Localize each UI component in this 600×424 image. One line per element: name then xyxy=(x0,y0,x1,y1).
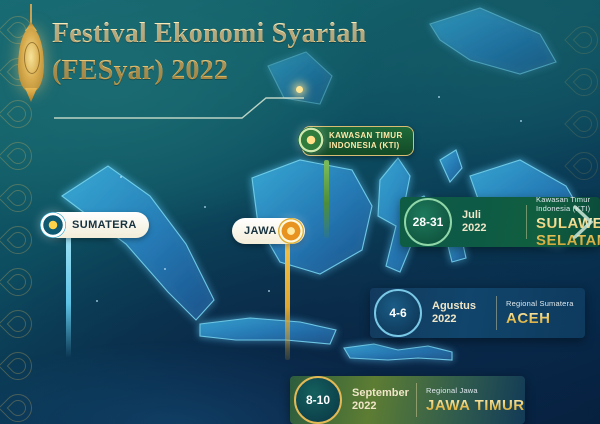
title-line-2: (FESyar) 2022 xyxy=(52,53,442,90)
event-card-aceh[interactable]: 4-6 Agustus 2022 Regional Sumatera ACEH xyxy=(370,288,585,338)
star-speck xyxy=(204,206,206,208)
star-speck xyxy=(120,176,122,178)
gold-medallion-icon xyxy=(278,218,304,244)
event-month: Agustus xyxy=(432,300,496,313)
map-pin-kti[interactable]: KAWASAN TIMUR INDONESIA (KTI) xyxy=(302,126,414,156)
event-month-year: Juli 2022 xyxy=(456,205,527,239)
event-dates: 8-10 xyxy=(294,376,342,424)
pin-stem-jawa xyxy=(285,242,290,360)
event-date-badge: 4-6 xyxy=(370,288,426,338)
pin-label-jawa: JAWA xyxy=(244,225,277,237)
event-province: JAWA TIMUR xyxy=(426,397,525,414)
chevron-right-icon xyxy=(572,205,594,239)
event-month: September xyxy=(352,387,416,400)
event-region: Regional Jawa xyxy=(426,386,525,395)
star-speck xyxy=(164,268,166,270)
title-connector-line xyxy=(54,96,304,120)
star-speck xyxy=(268,290,270,292)
event-month-year: Agustus 2022 xyxy=(426,296,497,330)
star-speck xyxy=(96,300,98,302)
festival-poster: Festival Ekonomi Syariah (FESyar) 2022 K… xyxy=(0,0,600,424)
title-connector-dot xyxy=(296,86,303,93)
event-card-sulawesi-selatan[interactable]: 28-31 Juli 2022 Kawasan Timur Indonesia … xyxy=(400,197,600,247)
event-date-badge: 8-10 xyxy=(290,376,346,424)
pin-label-kti-line2: INDONESIA (KTI) xyxy=(329,141,400,151)
event-card-jawa-timur[interactable]: 8-10 September 2022 Regional Jawa JAWA T… xyxy=(290,376,525,424)
event-year: 2022 xyxy=(352,400,416,413)
event-location: Regional Sumatera ACEH xyxy=(497,299,585,327)
map-pin-sumatera[interactable]: SUMATERA xyxy=(44,210,149,240)
event-region: Regional Sumatera xyxy=(506,299,585,308)
event-year: 2022 xyxy=(462,222,526,235)
event-location: Regional Jawa JAWA TIMUR xyxy=(417,386,525,414)
event-month: Juli xyxy=(462,209,526,222)
pin-stem-sumatera xyxy=(66,236,71,358)
teal-medallion-icon xyxy=(40,212,66,238)
pin-label-kti-line1: KAWASAN TIMUR xyxy=(329,131,403,141)
green-medallion-icon xyxy=(298,127,324,153)
event-dates: 4-6 xyxy=(374,289,422,337)
event-dates: 28-31 xyxy=(404,198,452,246)
event-province: ACEH xyxy=(506,310,585,327)
star-speck xyxy=(438,96,440,98)
lantern-icon xyxy=(14,4,48,112)
event-month-year: September 2022 xyxy=(346,383,417,417)
pin-label-sumatera: SUMATERA xyxy=(72,219,137,231)
star-speck xyxy=(520,120,522,122)
event-date-badge: 28-31 xyxy=(400,197,456,247)
pin-stem-kti xyxy=(324,160,329,238)
title-line-1: Festival Ekonomi Syariah xyxy=(52,18,366,49)
map-pin-jawa[interactable]: JAWA xyxy=(232,216,305,246)
page-title: Festival Ekonomi Syariah (FESyar) 2022 xyxy=(52,16,442,90)
event-year: 2022 xyxy=(432,313,496,326)
